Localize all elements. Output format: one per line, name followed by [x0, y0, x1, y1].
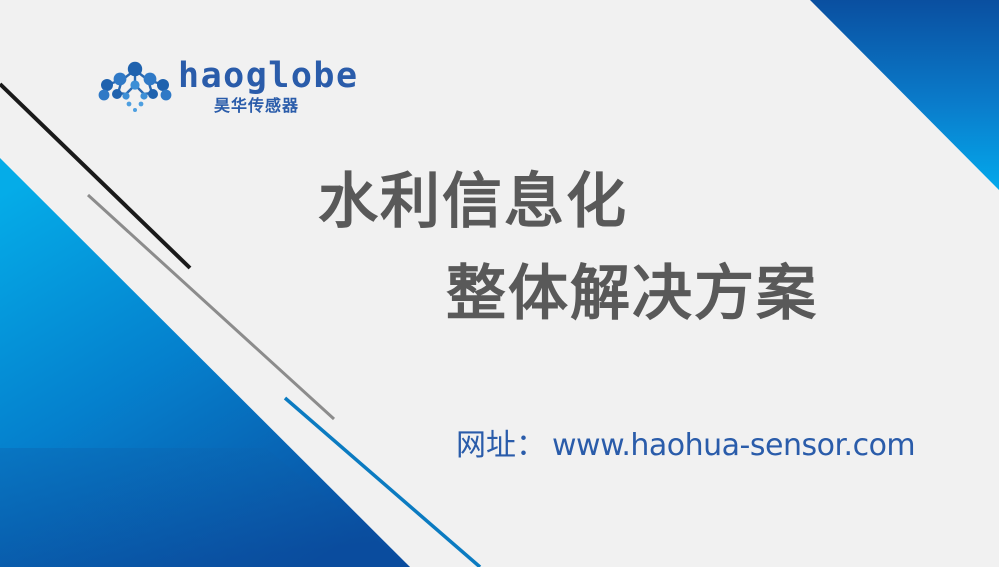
- diagonal-accent-line-gray: [88, 195, 334, 419]
- slide-title-line-2: 整体解决方案: [446, 260, 818, 329]
- website-line: 网址： www.haohua-sensor.com: [456, 420, 915, 464]
- website-label: 网址：: [456, 420, 546, 464]
- top-right-triangle: [810, 0, 999, 190]
- haoglobe-network-dots-icon: [96, 58, 174, 116]
- diagonal-accent-line-blue: [285, 398, 480, 567]
- company-logo: haoglobe 昊华传感器: [96, 56, 326, 122]
- logo-wordmark: haoglobe: [178, 59, 359, 94]
- slide-title-line-1: 水利信息化: [318, 168, 628, 237]
- presentation-slide: haoglobe 昊华传感器 水利信息化 整体解决方案 网址： www.haoh…: [0, 0, 999, 567]
- logo-subtext: 昊华传感器: [214, 98, 299, 114]
- website-url[interactable]: www.haohua-sensor.com: [552, 428, 915, 463]
- bottom-left-blue-band: [0, 448, 410, 567]
